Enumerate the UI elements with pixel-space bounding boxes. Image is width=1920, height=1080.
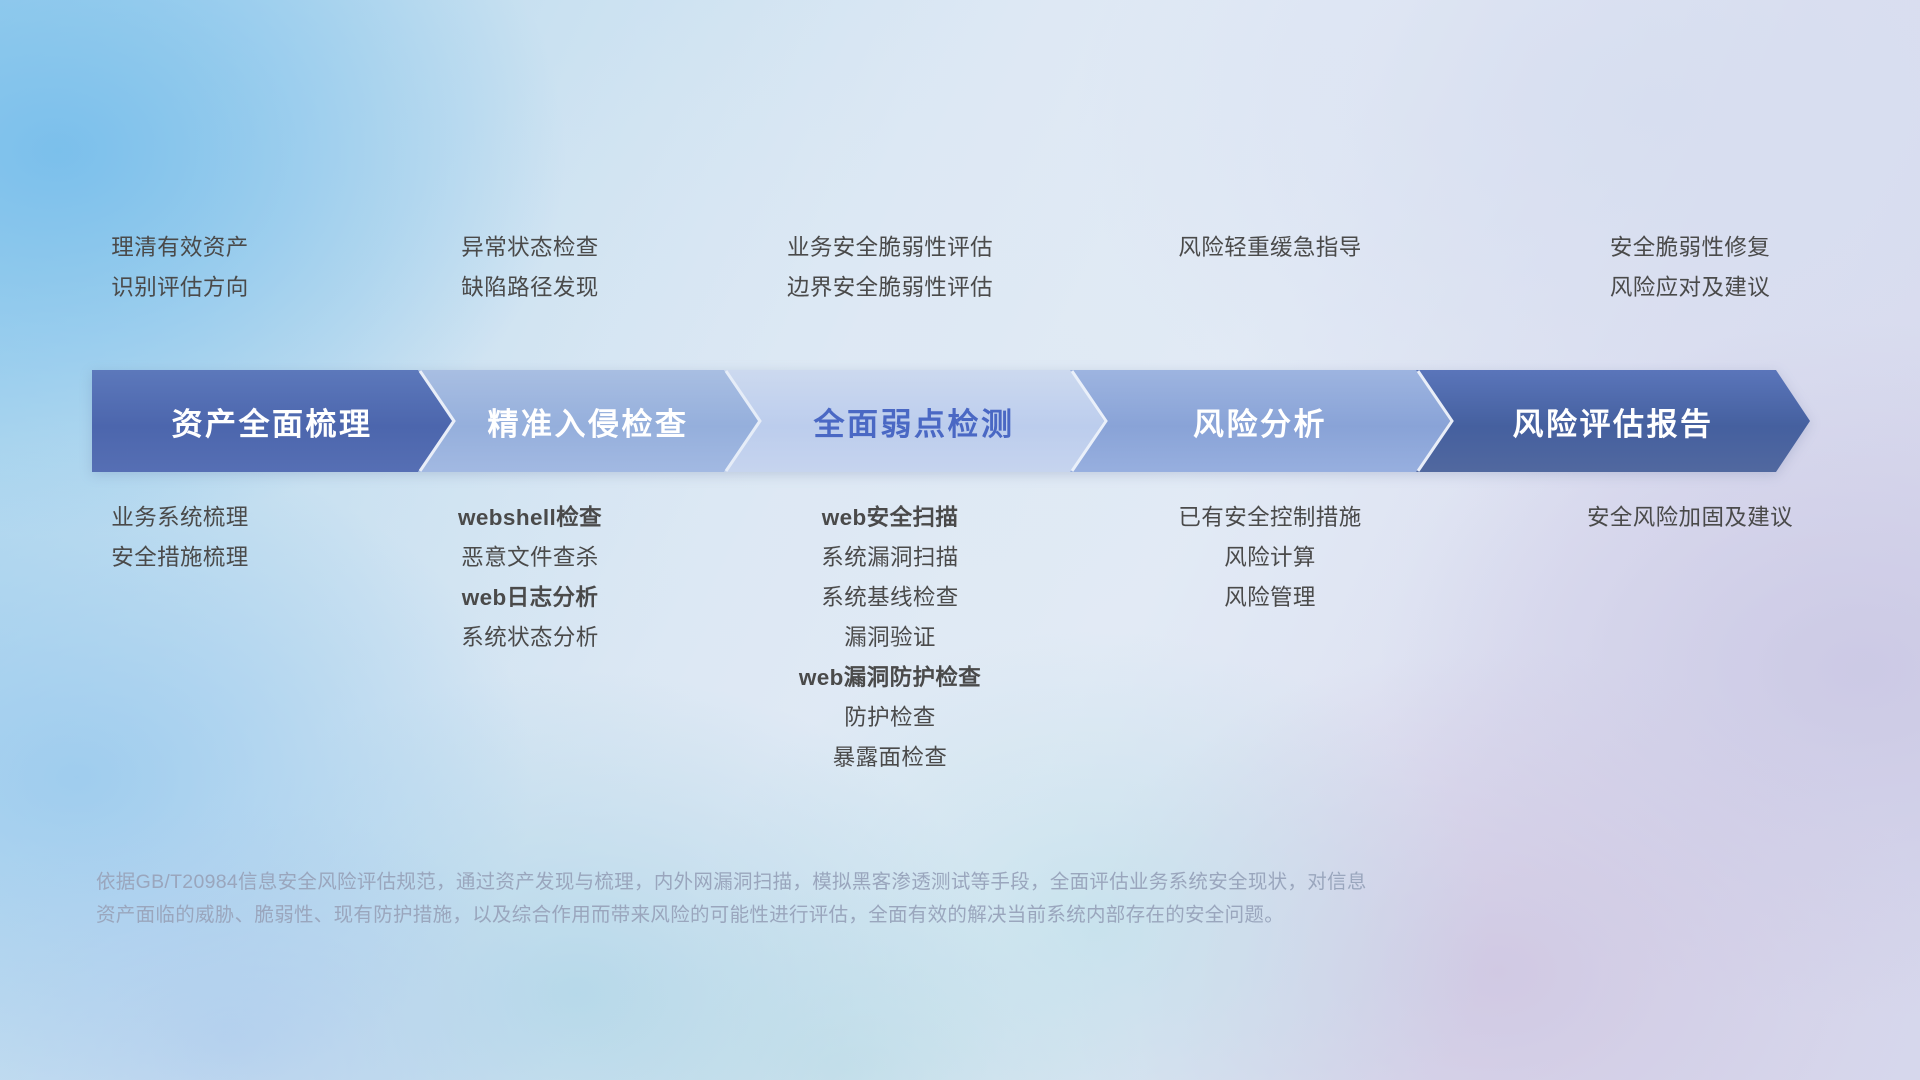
- footer-line: 依据GB/T20984信息安全风险评估规范，通过资产发现与梳理，内外网漏洞扫描，…: [96, 866, 1596, 899]
- bottom-item: 安全措施梳理: [111, 538, 248, 578]
- top-item: 业务安全脆弱性评估: [787, 228, 993, 268]
- top-item: 边界安全脆弱性评估: [787, 268, 993, 308]
- stage-label: 风险评估报告: [1513, 399, 1714, 444]
- bottom-item: web安全扫描: [822, 498, 959, 538]
- top-column-3: 业务安全脆弱性评估 边界安全脆弱性评估: [700, 228, 1080, 338]
- bottom-item: 系统漏洞扫描: [821, 538, 958, 578]
- bottom-item: 恶意文件查杀: [461, 538, 598, 578]
- bottom-item: 业务系统梳理: [111, 498, 248, 538]
- top-column-2: 异常状态检查 缺陷路径发现: [360, 228, 700, 338]
- bottom-item: 风险计算: [1224, 538, 1316, 578]
- process-arrow-banner: 资产全面梳理 精准入侵检查 全面弱点检测 风险分析 风险评估报告: [92, 370, 1852, 472]
- top-item: 安全脆弱性修复: [1610, 228, 1770, 268]
- footer-line: 资产面临的威胁、脆弱性、现有防护措施，以及综合作用而带来风险的可能性进行评估，全…: [96, 899, 1596, 932]
- top-item: 异常状态检查: [461, 228, 598, 268]
- stage-chevron-2[interactable]: 精准入侵检查: [418, 370, 758, 472]
- bottom-item: 防护检查: [844, 698, 936, 738]
- bottom-item: webshell检查: [458, 498, 602, 538]
- stage-chevron-3[interactable]: 全面弱点检测: [724, 370, 1104, 472]
- top-item: 理清有效资产: [111, 228, 248, 268]
- top-item: 缺陷路径发现: [461, 268, 598, 308]
- bottom-column-5: 安全风险加固及建议: [1460, 498, 1920, 778]
- bottom-item: 已有安全控制措施: [1178, 498, 1361, 538]
- bottom-item: 漏洞验证: [844, 618, 936, 658]
- stage-chevron-1[interactable]: 资产全面梳理: [92, 370, 452, 472]
- bottom-item: 风险管理: [1224, 578, 1316, 618]
- top-item: 识别评估方向: [111, 268, 248, 308]
- bottom-item: 系统基线检查: [821, 578, 958, 618]
- bottom-column-4: 已有安全控制措施 风险计算 风险管理: [1080, 498, 1460, 778]
- bottom-item: web日志分析: [462, 578, 599, 618]
- bottom-column-1: 业务系统梳理 安全措施梳理: [0, 498, 360, 778]
- stage-label: 风险分析: [1193, 399, 1327, 444]
- bottom-item: 安全风险加固及建议: [1587, 498, 1793, 538]
- stage-label: 全面弱点检测: [814, 399, 1015, 444]
- stage-chevron-4[interactable]: 风险分析: [1070, 370, 1450, 472]
- top-item: 风险轻重缓急指导: [1178, 228, 1361, 268]
- footer-description: 依据GB/T20984信息安全风险评估规范，通过资产发现与梳理，内外网漏洞扫描，…: [96, 866, 1596, 932]
- bottom-item: 系统状态分析: [461, 618, 598, 658]
- bottom-item: 暴露面检查: [833, 738, 948, 778]
- top-column-4: 风险轻重缓急指导: [1080, 228, 1460, 338]
- top-column-5: 安全脆弱性修复 风险应对及建议: [1460, 228, 1920, 338]
- top-labels-row: 理清有效资产 识别评估方向 异常状态检查 缺陷路径发现 业务安全脆弱性评估 边界…: [0, 228, 1920, 338]
- bottom-labels-row: 业务系统梳理 安全措施梳理 webshell检查 恶意文件查杀 web日志分析 …: [0, 498, 1920, 778]
- top-item: 风险应对及建议: [1610, 268, 1770, 308]
- diagram-canvas: 理清有效资产 识别评估方向 异常状态检查 缺陷路径发现 业务安全脆弱性评估 边界…: [0, 0, 1920, 1080]
- top-column-1: 理清有效资产 识别评估方向: [0, 228, 360, 338]
- stage-chevron-5[interactable]: 风险评估报告: [1416, 370, 1810, 472]
- stage-label: 精准入侵检查: [488, 399, 689, 444]
- stage-label: 资产全面梳理: [172, 399, 373, 444]
- bottom-column-3: web安全扫描 系统漏洞扫描 系统基线检查 漏洞验证 web漏洞防护检查 防护检…: [700, 498, 1080, 778]
- bottom-column-2: webshell检查 恶意文件查杀 web日志分析 系统状态分析: [360, 498, 700, 778]
- bottom-item: web漏洞防护检查: [799, 658, 981, 698]
